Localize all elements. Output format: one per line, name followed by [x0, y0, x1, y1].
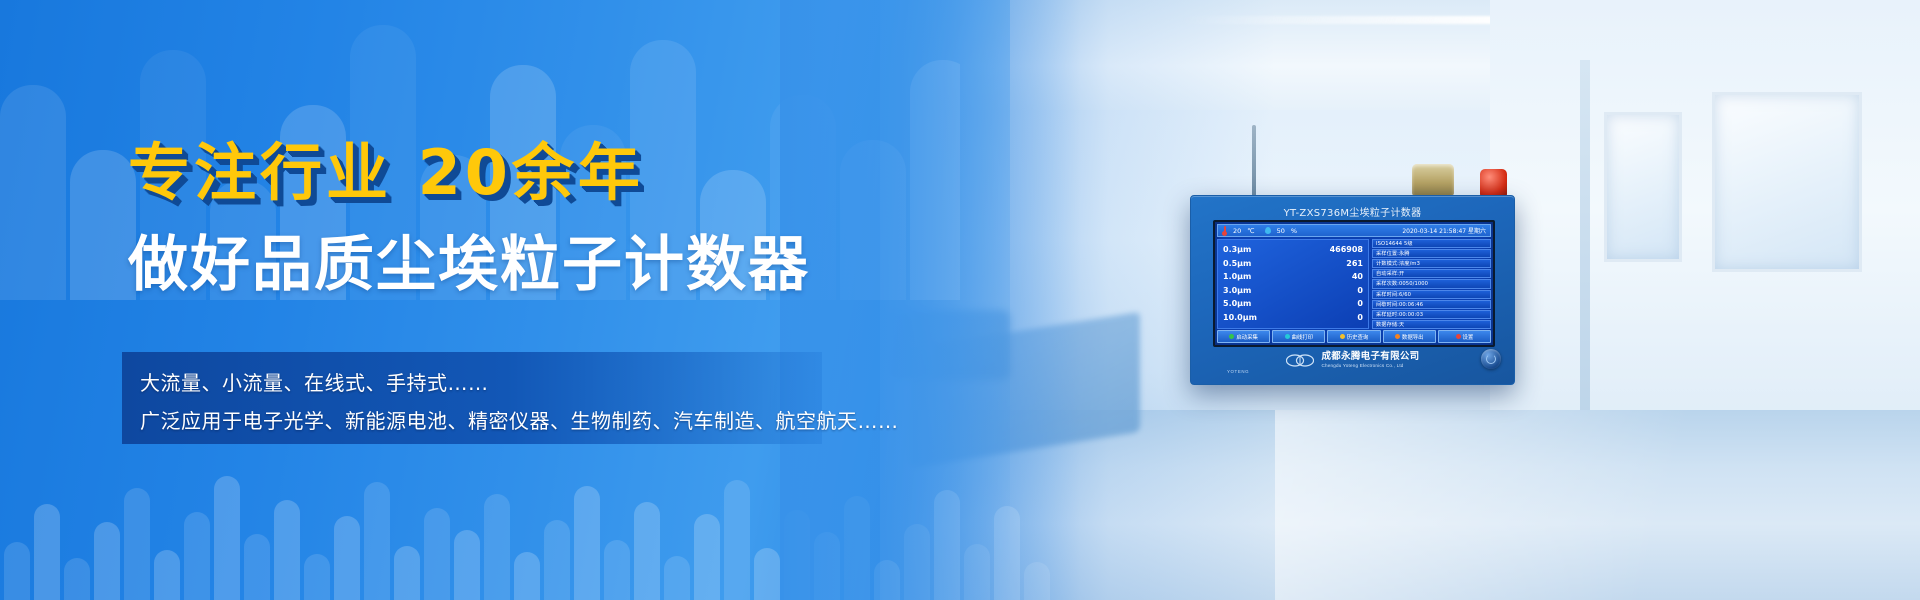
datetime-display: 2020-03-14 21:58:47 星期六	[1402, 226, 1486, 235]
settings-info-panel: ISO14644 5级 采样位置:永腾 计数模式:浓度/m3 自动采样:开 采样…	[1372, 239, 1491, 329]
brass-connector	[1412, 164, 1454, 196]
particle-count: 0	[1357, 299, 1363, 308]
particle-size: 0.5μm	[1223, 259, 1251, 268]
temperature-unit: ℃	[1247, 227, 1254, 235]
info-row: 自动采样:开	[1372, 269, 1491, 278]
status-dot-icon	[1340, 334, 1345, 339]
humidity-drop-icon	[1265, 226, 1271, 235]
subtitle-line-2: 广泛应用于电子光学、新能源电池、精密仪器、生物制药、汽车制造、航空航天……	[140, 405, 899, 434]
antenna	[1252, 125, 1256, 197]
info-row: 采样位置:永腾	[1372, 249, 1491, 258]
button-label: 曲线打印	[1292, 333, 1314, 341]
table-row: 5.0μm 0	[1223, 297, 1363, 311]
button-label: 数据导出	[1402, 333, 1424, 341]
particle-count: 40	[1352, 272, 1363, 281]
particle-size: 1.0μm	[1223, 272, 1251, 281]
screen-status-bar: 20 ℃ 50 % 2020-03-14 21:58:47 星期六	[1217, 224, 1491, 237]
particle-count: 261	[1346, 259, 1363, 268]
company-name-en: Chengdu Yoteng Electronics Co., Ltd	[1321, 363, 1419, 368]
status-dot-icon	[1285, 334, 1290, 339]
start-sampling-button[interactable]: 启动采集	[1217, 330, 1270, 343]
headline-secondary: 做好品质尘埃粒子计数器	[128, 216, 810, 303]
history-query-button[interactable]: 历史查询	[1327, 330, 1380, 343]
headline-primary: 专注行业 20余年	[128, 122, 644, 212]
device-model-title: YT-ZXS736M尘埃粒子计数器	[1191, 204, 1514, 219]
device-body: YT-ZXS736M尘埃粒子计数器 20 ℃ 50 % 2020-03-14 2…	[1190, 195, 1515, 385]
particle-count: 466908	[1330, 245, 1363, 254]
device-branding: 成都永腾电子有限公司 Chengdu Yoteng Electronics Co…	[1191, 352, 1514, 368]
settings-button[interactable]: 设置	[1438, 330, 1491, 343]
info-row: 间歇时间:00:06:46	[1372, 300, 1491, 309]
company-name-cn: 成都永腾电子有限公司	[1321, 352, 1419, 363]
humidity-unit: %	[1291, 227, 1297, 235]
table-row: 3.0μm 0	[1223, 284, 1363, 298]
button-label: 历史查询	[1347, 333, 1369, 341]
thermometer-icon	[1222, 226, 1227, 235]
info-row: ISO14644 5级	[1372, 239, 1491, 248]
table-row: 0.5μm 261	[1223, 257, 1363, 271]
data-export-button[interactable]: 数据导出	[1383, 330, 1436, 343]
yoteng-logo-icon	[1285, 353, 1315, 368]
table-row: 0.3μm 466908	[1223, 243, 1363, 257]
particle-size: 5.0μm	[1223, 299, 1251, 308]
status-dot-icon	[1395, 334, 1400, 339]
panel-fade	[780, 0, 1080, 600]
device-screen[interactable]: 20 ℃ 50 % 2020-03-14 21:58:47 星期六 0.3μm …	[1213, 220, 1495, 347]
status-dot-icon	[1229, 334, 1234, 339]
particle-counter-device: YT-ZXS736M尘埃粒子计数器 20 ℃ 50 % 2020-03-14 2…	[1190, 195, 1515, 385]
alarm-lamp-icon	[1480, 169, 1507, 196]
humidity-value: 50	[1277, 227, 1285, 235]
logo-wordmark: YOTENG	[1227, 369, 1249, 374]
status-dot-icon	[1456, 334, 1461, 339]
particle-size: 0.3μm	[1223, 245, 1251, 254]
particle-size: 10.0μm	[1223, 313, 1257, 322]
info-row: 采样时间:6/60	[1372, 290, 1491, 299]
info-row: 采样延时:00:00:03	[1372, 310, 1491, 319]
temperature-value: 20	[1233, 227, 1241, 235]
power-button[interactable]	[1481, 349, 1501, 369]
button-label: 启动采集	[1236, 333, 1258, 341]
banner-stage: 专注行业 20余年 做好品质尘埃粒子计数器 大流量、小流量、在线式、手持式…… …	[0, 0, 1920, 600]
info-row: 采样次数:0050/1000	[1372, 279, 1491, 288]
table-row: 1.0μm 40	[1223, 270, 1363, 284]
particle-count-table: 0.3μm 466908 0.5μm 261 1.0μm 40 3.0μm	[1217, 239, 1369, 329]
particle-count: 0	[1357, 313, 1363, 322]
table-row: 10.0μm 0	[1223, 311, 1363, 325]
info-row: 计数模式:浓度/m3	[1372, 259, 1491, 268]
curve-print-button[interactable]: 曲线打印	[1272, 330, 1325, 343]
subtitle-line-1: 大流量、小流量、在线式、手持式……	[140, 367, 489, 396]
particle-size: 3.0μm	[1223, 286, 1251, 295]
screen-button-bar: 启动采集 曲线打印 历史查询 数据导出	[1217, 330, 1491, 343]
screen-main-area: 0.3μm 466908 0.5μm 261 1.0μm 40 3.0μm	[1217, 239, 1491, 329]
particle-count: 0	[1357, 286, 1363, 295]
info-row: 数据存储:天	[1372, 320, 1491, 329]
button-label: 设置	[1463, 333, 1474, 341]
